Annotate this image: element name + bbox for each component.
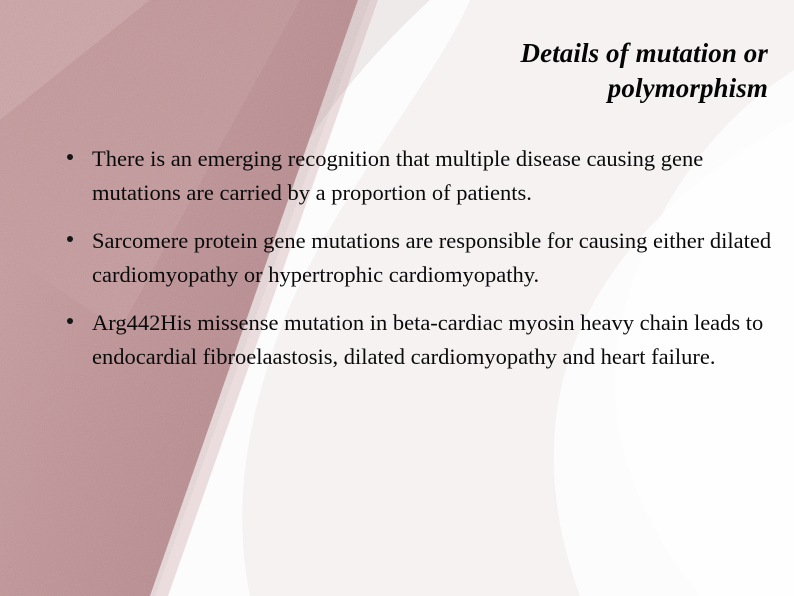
slide-canvas: Details of mutation or polymorphism Ther… — [0, 0, 794, 596]
slide-title-line-2: polymorphism — [338, 71, 768, 106]
list-item: Arg442His missense mutation in beta-card… — [58, 306, 784, 373]
bullet-text: Arg442His missense mutation in beta-card… — [92, 306, 784, 373]
bullet-text: Sarcomere protein gene mutations are res… — [92, 224, 784, 291]
round-bullet-icon — [67, 318, 73, 324]
slide-title-line-1: Details of mutation or — [338, 36, 768, 71]
list-item: Sarcomere protein gene mutations are res… — [58, 224, 784, 291]
list-item: There is an emerging recognition that mu… — [58, 142, 784, 209]
round-bullet-icon — [67, 236, 73, 242]
slide-title: Details of mutation or polymorphism — [338, 36, 768, 106]
bullet-text: There is an emerging recognition that mu… — [92, 142, 784, 209]
round-bullet-icon — [67, 154, 73, 160]
bullet-list: There is an emerging recognition that mu… — [58, 142, 784, 389]
